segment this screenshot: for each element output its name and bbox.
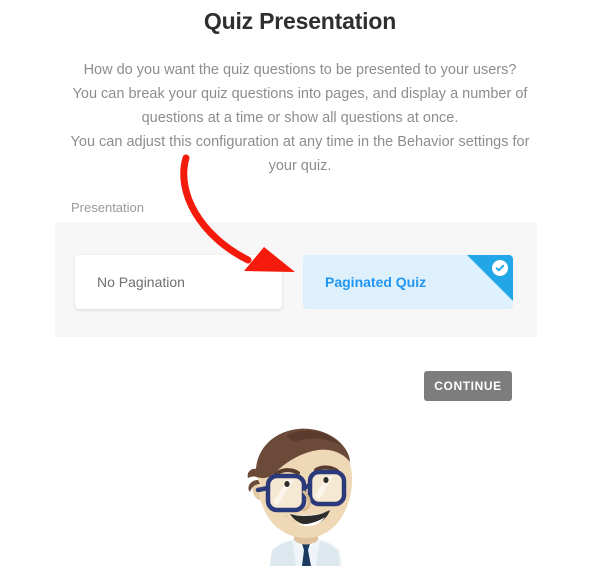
option-label-paginated-quiz: Paginated Quiz [303,274,426,290]
selected-corner-badge [467,255,513,301]
option-card-paginated-quiz[interactable]: Paginated Quiz [303,255,513,309]
continue-button[interactable]: CONTINUE [424,371,512,401]
presentation-field-label: Presentation [71,200,144,215]
presentation-options-panel: No Pagination Paginated Quiz [55,222,537,337]
quiz-presentation-screen: Quiz Presentation How do you want the qu… [0,0,600,566]
option-card-no-pagination[interactable]: No Pagination [75,255,282,309]
corner-triangle [467,255,513,301]
page-description: How do you want the quiz questions to be… [70,58,530,178]
mascot-illustration [232,418,378,566]
page-title: Quiz Presentation [0,8,600,35]
check-icon [492,260,508,276]
description-paragraph-2: You can adjust this configuration at any… [70,130,530,178]
description-paragraph-1: How do you want the quiz questions to be… [70,58,530,130]
option-label-no-pagination: No Pagination [75,274,185,290]
